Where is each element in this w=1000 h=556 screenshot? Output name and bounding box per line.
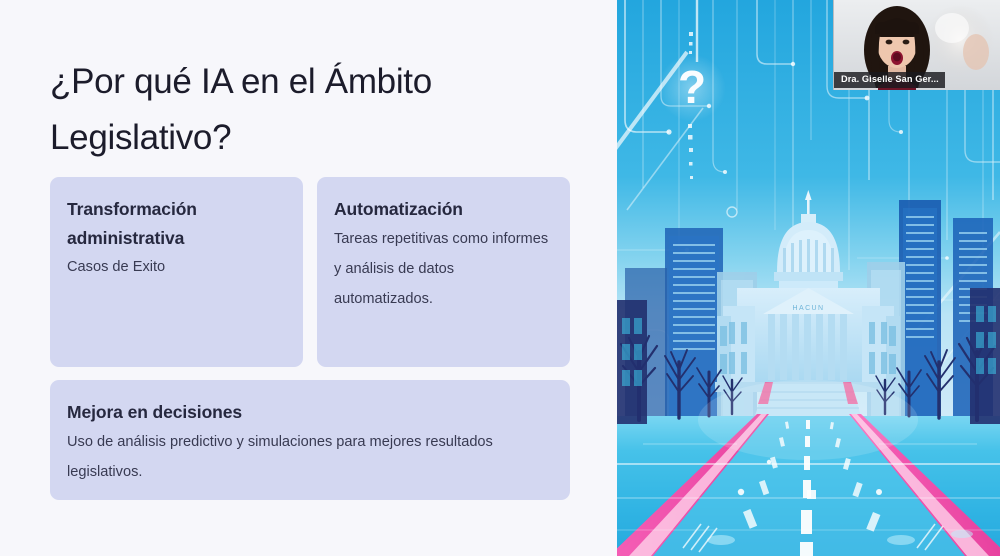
svg-text:?: ? bbox=[678, 61, 706, 113]
card-automatizacion: Automatización Tareas repetitivas como i… bbox=[317, 177, 570, 367]
presentation-slide: ¿Por qué IA en el Ámbito Legislativo? Tr… bbox=[0, 0, 617, 556]
card-title: Mejora en decisiones bbox=[67, 398, 553, 427]
card-body: Casos de Exito bbox=[67, 252, 286, 282]
card-title: Transformación administrativa bbox=[67, 195, 286, 252]
card-mejora-en-decisiones: Mejora en decisiones Uso de análisis pre… bbox=[50, 380, 570, 500]
card-body: Uso de análisis predictivo y simulacione… bbox=[67, 427, 553, 487]
pediment-inscription: HACUN bbox=[793, 305, 825, 312]
screen-share-view: ¿Por qué IA en el Ámbito Legislativo? Tr… bbox=[0, 0, 1000, 556]
card-title: Automatización bbox=[334, 195, 553, 224]
card-transformacion-administrativa: Transformación administrativa Casos de E… bbox=[50, 177, 303, 367]
participant-name-label: Dra. Giselle San Ger... bbox=[834, 72, 945, 88]
card-body: Tareas repetitivas como informes y análi… bbox=[334, 224, 553, 314]
participant-video-tile[interactable]: Dra. Giselle San Ger... bbox=[833, 0, 1000, 90]
page-title: ¿Por qué IA en el Ámbito Legislativo? bbox=[50, 54, 570, 166]
